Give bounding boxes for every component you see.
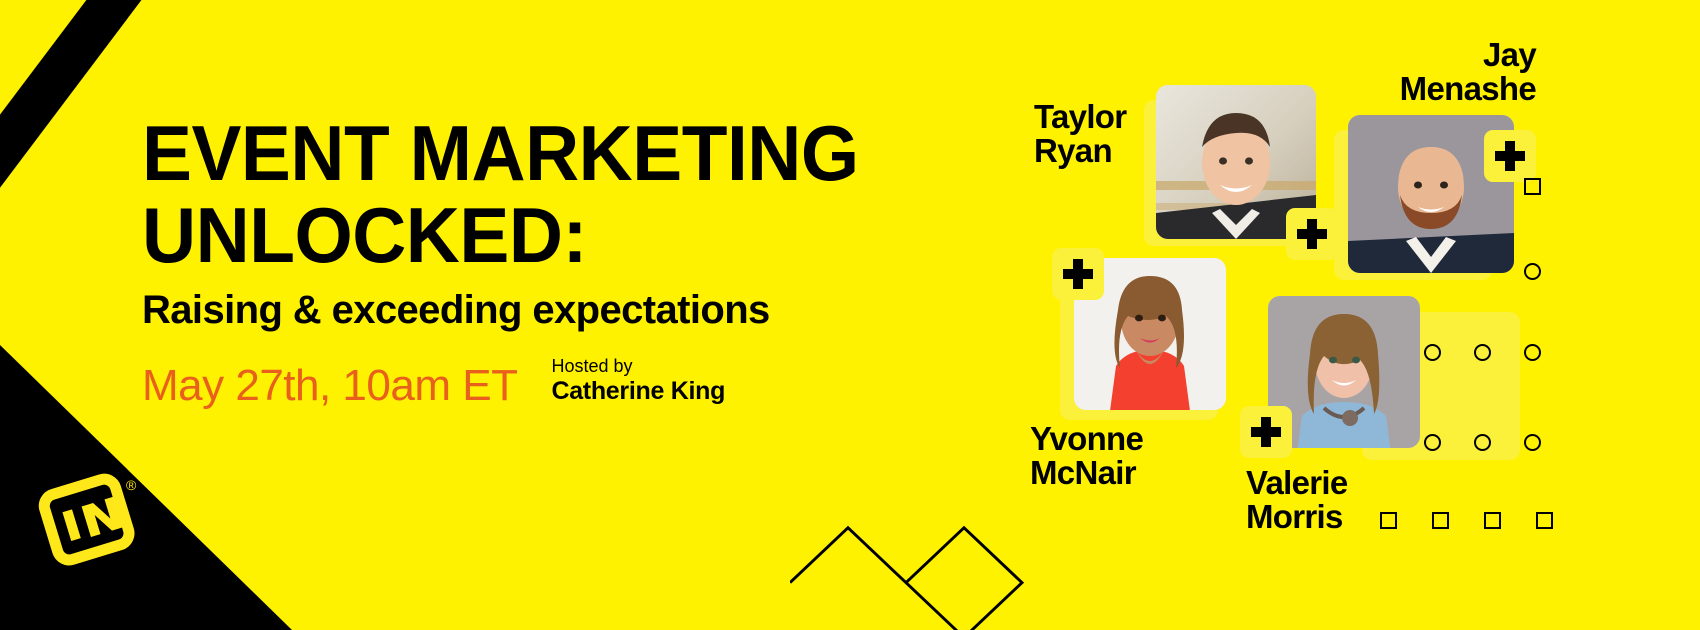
plus-icon [1063, 259, 1093, 289]
plus-badge-3 [1052, 248, 1104, 300]
in-logo-icon: ® [36, 460, 148, 572]
grid-square-outline [1536, 512, 1553, 529]
grid-circle-outline [1474, 344, 1491, 361]
speaker-name-yvonne-mcnair: Yvonne McNair [1030, 422, 1260, 489]
zigzag-chevron-decoration [790, 488, 1030, 630]
grid-circle-outline [1524, 434, 1541, 451]
headline-line-2: UNLOCKED: [142, 200, 1006, 272]
event-banner: EVENT MARKETING UNLOCKED: Raising & exce… [0, 0, 1700, 630]
headline-subtitle: Raising & exceeding expectations [142, 290, 1042, 330]
plus-icon [1495, 141, 1525, 171]
grid-circle-outline [1524, 263, 1541, 280]
plus-badge-1 [1286, 208, 1338, 260]
grid-square-outline [1524, 178, 1541, 195]
headline-line-1: EVENT MARKETING [142, 118, 1006, 190]
host-block: Hosted by Catherine King [551, 356, 725, 408]
plus-badge-2 [1484, 130, 1536, 182]
speaker-name-jay-menashe: Jay Menashe [1320, 38, 1536, 105]
plus-icon [1251, 417, 1281, 447]
event-meta-row: May 27th, 10am ET Hosted by Catherine Ki… [142, 356, 1042, 408]
event-date: May 27th, 10am ET [142, 364, 517, 408]
grid-circle-outline [1524, 344, 1541, 361]
grid-circle-outline [1424, 344, 1441, 361]
plus-icon [1297, 219, 1327, 249]
grid-square-outline [1484, 512, 1501, 529]
host-name: Catherine King [551, 377, 725, 406]
headline-block: EVENT MARKETING UNLOCKED: Raising & exce… [142, 118, 1042, 408]
brand-logo[interactable]: ® [36, 460, 148, 572]
grid-circle-outline [1424, 434, 1441, 451]
grid-square-outline [1380, 512, 1397, 529]
grid-square-outline [1432, 512, 1449, 529]
hosted-by-label: Hosted by [551, 356, 725, 378]
registered-mark: ® [126, 477, 137, 493]
plus-badge-4 [1240, 406, 1292, 458]
grid-circle-outline [1474, 434, 1491, 451]
